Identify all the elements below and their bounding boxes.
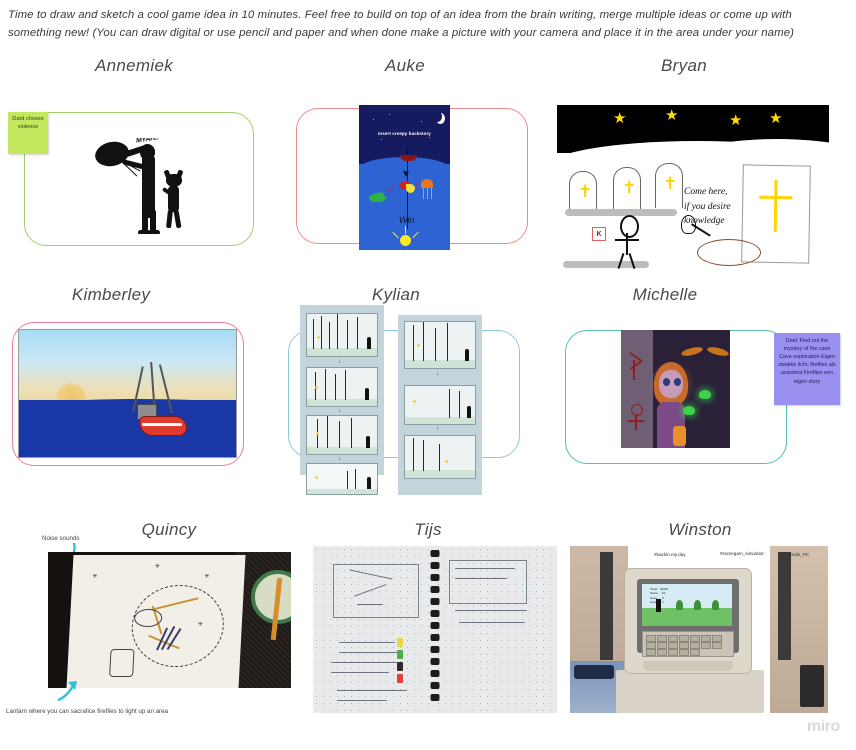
storyboard-cell xyxy=(306,367,378,407)
arrow-up-icon xyxy=(54,680,84,702)
tree-line xyxy=(337,314,338,349)
quote-line-1: Come here, xyxy=(684,187,727,197)
sticky-tab-black xyxy=(397,662,403,671)
glow-ray xyxy=(412,232,419,239)
figure-silhouette xyxy=(365,388,369,400)
handwriting-line xyxy=(339,642,395,643)
artwork-michelle[interactable] xyxy=(621,330,730,448)
storyboard-cell xyxy=(404,385,476,425)
firefly-spark xyxy=(315,476,318,479)
tree-line xyxy=(357,317,358,350)
cell-grass xyxy=(307,489,377,494)
handwriting-line xyxy=(455,568,515,569)
big-cross-vertical xyxy=(774,180,778,232)
firefly xyxy=(699,390,711,399)
spiral-ring xyxy=(431,574,440,581)
boat-stripe xyxy=(142,423,182,426)
tree-line xyxy=(423,440,424,471)
storyboard-cell xyxy=(404,435,476,479)
crt-monitor: Timer 00:00 Score 10 Lives 3 Level 1 xyxy=(624,568,752,674)
sticky-note-michelle[interactable]: Doel: Find out the mystery of the cave C… xyxy=(774,333,840,405)
spiral-ring xyxy=(431,586,440,593)
character-eye-right xyxy=(674,378,681,386)
tree-line xyxy=(355,469,356,489)
tree-line xyxy=(325,369,326,400)
toolbar-button[interactable] xyxy=(712,635,722,642)
notebook-spiral xyxy=(431,546,440,713)
glow-ray xyxy=(405,226,406,234)
star-icon: ★ xyxy=(665,108,678,123)
sketch-box xyxy=(333,564,419,618)
spiral-ring xyxy=(431,694,440,701)
lure-group xyxy=(400,181,414,192)
handwriting-line xyxy=(337,690,407,691)
artwork-annemiek[interactable]: MYAH!! xyxy=(92,138,192,234)
artwork-kimberley[interactable] xyxy=(18,329,237,458)
toolbar-button[interactable] xyxy=(668,642,678,649)
storyboard-cell xyxy=(306,463,378,495)
star-icon: ★ xyxy=(613,111,626,126)
participant-name-michelle: Michelle xyxy=(633,285,698,305)
monster-eye-right xyxy=(706,345,729,357)
hashtag-2: #somegam_simulator xyxy=(720,551,764,556)
spiral-ring xyxy=(431,562,440,569)
tree-line xyxy=(351,418,352,448)
jellyfish-bell xyxy=(421,179,433,188)
key-badge: K xyxy=(592,227,606,241)
cell-grass xyxy=(405,417,475,424)
tree-line xyxy=(347,320,348,349)
participant-name-quincy: Quincy xyxy=(142,520,197,540)
handwriting-line xyxy=(459,622,525,623)
tree-line xyxy=(339,421,340,448)
tree-line xyxy=(327,416,328,448)
jellyfish-tentacle xyxy=(431,188,432,199)
firefly-spark xyxy=(317,336,320,339)
cave-glyph xyxy=(633,360,635,380)
cave-glyph xyxy=(628,420,644,422)
flow-arrow: ↓ xyxy=(436,371,439,377)
dug-hole xyxy=(697,239,761,266)
game-tree xyxy=(694,600,701,610)
trail-dot xyxy=(387,189,389,191)
crt-screen: Timer 00:00 Score 10 Lives 3 Level 1 xyxy=(637,579,739,653)
stick-body xyxy=(626,233,628,255)
editor-toolbar[interactable] xyxy=(642,631,734,657)
curtain xyxy=(778,552,791,660)
tree-line xyxy=(423,321,424,361)
figure-silhouette xyxy=(465,349,469,361)
cross-icon: ✝ xyxy=(578,183,592,200)
backstory-caption: Insert creepy backstory xyxy=(378,131,431,136)
toolbar-button[interactable] xyxy=(646,649,656,656)
game-tree xyxy=(712,600,719,610)
spiral-ring xyxy=(431,550,440,557)
firefly-spark xyxy=(413,400,416,403)
lantern-icon xyxy=(673,426,686,446)
participant-name-tijs: Tijs xyxy=(414,520,442,540)
firefly-spark xyxy=(315,386,318,389)
tree-line xyxy=(449,389,450,418)
monster-eye-left xyxy=(680,345,703,357)
bug-sketch: ✳ xyxy=(204,573,209,580)
toolbar-button[interactable] xyxy=(657,635,667,642)
win-label: Win xyxy=(399,215,414,225)
annotation-lantern: Lantarn where you can sacrafice fireflie… xyxy=(6,708,168,715)
quote-line-2: if you desire xyxy=(684,202,731,212)
firefly-spark xyxy=(316,432,319,435)
toolbar-button[interactable] xyxy=(668,649,678,656)
handwriting-line xyxy=(357,604,383,605)
toolbar-button[interactable] xyxy=(668,635,678,642)
desk xyxy=(616,670,764,713)
board-instructions: Time to draw and sketch a cool game idea… xyxy=(8,6,846,43)
handwriting-line xyxy=(339,652,401,653)
miro-board[interactable]: Time to draw and sketch a cool game idea… xyxy=(0,0,856,750)
stick-arms xyxy=(615,239,639,241)
jellyfish-tentacle xyxy=(427,188,428,199)
cave-glyph xyxy=(631,404,643,416)
sticky-note-annemiek[interactable]: Dard choses violence xyxy=(8,112,48,154)
toolbar-button[interactable] xyxy=(679,642,689,649)
figure-leg-left xyxy=(142,210,148,232)
handwriting-line xyxy=(455,610,527,611)
hashtag-3: #indie_PC xyxy=(788,552,809,557)
annotation-noise-sounds: Noise sounds xyxy=(42,535,80,542)
artwork-bryan[interactable]: ★ ★ ★ ★ ✝ ✝ ✝ Come here,if you desirekno… xyxy=(557,105,829,273)
toolbar-button[interactable] xyxy=(657,642,667,649)
room-right xyxy=(770,546,828,713)
paper-sheet: ✳ ✳ ✳ ✳ xyxy=(67,555,246,688)
tree-line xyxy=(459,391,460,418)
artwork-quincy[interactable]: ✳ ✳ ✳ ✳ xyxy=(48,552,291,688)
tree-line xyxy=(329,322,330,350)
participant-name-annemiek: Annemiek xyxy=(95,56,173,76)
toolbar-button[interactable] xyxy=(646,635,656,642)
tree-line xyxy=(313,319,314,349)
character-eye-left xyxy=(663,378,670,386)
star-icon: ★ xyxy=(769,111,782,126)
game-tree xyxy=(676,600,683,610)
spiral-ring xyxy=(431,658,440,665)
handwriting-line xyxy=(337,700,387,701)
moon-icon xyxy=(433,111,442,122)
storyboard-cell xyxy=(306,313,378,357)
participant-name-kimberley: Kimberley xyxy=(72,285,150,305)
down-arrow-icon xyxy=(403,171,409,177)
star-icon: ★ xyxy=(729,113,742,128)
cell-grass xyxy=(307,447,377,454)
toolbar-button[interactable] xyxy=(657,649,667,656)
figure-silhouette xyxy=(366,436,370,448)
tree-line xyxy=(447,323,448,361)
game-viewport: Timer 00:00 Score 10 Lives 3 Level 1 xyxy=(642,584,732,626)
glow-ray xyxy=(392,232,399,239)
tree-line xyxy=(435,328,436,360)
cell-grass xyxy=(307,399,377,406)
figure-silhouette xyxy=(367,477,371,489)
storyboard-cell xyxy=(404,321,476,369)
handwriting-line xyxy=(331,662,397,663)
tree-line xyxy=(413,438,414,472)
artwork-winston[interactable]: #backin.my.day #somegam_simulator #indie… xyxy=(570,546,828,713)
tree-line xyxy=(335,374,336,400)
spiral-ring xyxy=(431,646,440,653)
handwriting-line xyxy=(331,672,389,673)
spiral-ring xyxy=(431,634,440,641)
bug-sketch: ✳ xyxy=(92,573,97,580)
flow-arrow: ↓ xyxy=(338,408,341,414)
sticky-tab-yellow xyxy=(397,638,403,647)
pillow xyxy=(574,665,614,679)
tree-line xyxy=(321,316,322,350)
tree-line xyxy=(413,325,414,361)
toolbar-button[interactable] xyxy=(690,649,700,656)
spiral-ring xyxy=(431,622,440,629)
cave-glyph xyxy=(635,414,637,430)
toolbar-button[interactable] xyxy=(701,642,711,649)
tree-line xyxy=(347,471,348,489)
sketch-box xyxy=(449,560,527,604)
lure-yellow xyxy=(406,184,415,193)
figure-foot-right xyxy=(148,230,160,234)
stick-figure xyxy=(612,215,644,265)
toolbar-button[interactable] xyxy=(712,642,722,649)
spiral-ring xyxy=(431,598,440,605)
creature-leg-left xyxy=(166,210,173,228)
sticky-tab-red xyxy=(397,674,403,683)
bug-sketch: ✳ xyxy=(155,563,160,570)
cell-grass xyxy=(405,470,475,478)
toolbar-button[interactable] xyxy=(690,642,700,649)
miro-watermark: miro xyxy=(807,718,840,736)
sunset-sky xyxy=(19,330,236,404)
game-score-panel: Timer 00:00 Score 10 Lives 3 Level 1 xyxy=(650,587,668,604)
bug-sketch: ✳ xyxy=(198,621,203,628)
monitor-base xyxy=(643,661,733,671)
boat-hull xyxy=(139,416,187,436)
figure-leg-right xyxy=(150,210,156,232)
spiral-ring xyxy=(431,610,440,617)
jellyfish-tentacle xyxy=(423,188,424,199)
artwork-auke[interactable]: Insert creepy backstory Win xyxy=(359,105,450,250)
goal-glow xyxy=(400,235,411,246)
creature-leg-right xyxy=(173,210,181,229)
lantern-sketch xyxy=(109,649,134,677)
trail-dot xyxy=(392,186,394,188)
trail-dot xyxy=(416,183,418,185)
tree-line xyxy=(439,444,440,472)
sticky-tab-green xyxy=(397,650,403,659)
figure-silhouette xyxy=(467,406,471,418)
firefly-spark xyxy=(417,344,420,347)
cell-grass xyxy=(307,348,377,356)
spiral-ring xyxy=(431,682,440,689)
participant-name-bryan: Bryan xyxy=(661,56,707,76)
fish-tail xyxy=(381,193,387,203)
participant-name-auke: Auke xyxy=(385,56,425,76)
artwork-tijs[interactable] xyxy=(313,546,557,713)
big-cross-horizontal xyxy=(759,196,792,200)
firefly-spark xyxy=(445,460,448,463)
flow-arrow: ↓ xyxy=(338,456,341,462)
heater xyxy=(800,665,824,707)
creature-figure xyxy=(164,174,186,230)
participant-name-kylian: Kylian xyxy=(372,285,420,305)
storyboard-cell xyxy=(306,415,378,455)
curtain xyxy=(600,552,613,660)
cave-wall xyxy=(621,330,653,448)
handwriting-line xyxy=(455,578,507,579)
toolbar-button[interactable] xyxy=(690,635,700,642)
artwork-kylian[interactable]: ↓ ↓ ↓ xyxy=(300,305,500,495)
spiral-ring xyxy=(431,670,440,677)
cell-grass xyxy=(405,360,475,368)
flow-arrow: ↓ xyxy=(436,425,439,431)
tree-line xyxy=(345,370,346,400)
hashtag-1: #backin.my.day xyxy=(654,552,686,557)
participant-name-winston: Winston xyxy=(668,520,731,540)
toolbar-button[interactable] xyxy=(701,635,711,642)
firefly xyxy=(683,406,695,415)
flow-arrow: ↓ xyxy=(338,359,341,365)
toolbar-button[interactable] xyxy=(646,642,656,649)
toolbar-button[interactable] xyxy=(679,649,689,656)
figure-silhouette xyxy=(367,337,371,349)
toolbar-button[interactable] xyxy=(679,635,689,642)
cross-icon: ✝ xyxy=(622,179,636,196)
stick-head xyxy=(620,215,639,238)
cross-icon: ✝ xyxy=(663,175,677,192)
